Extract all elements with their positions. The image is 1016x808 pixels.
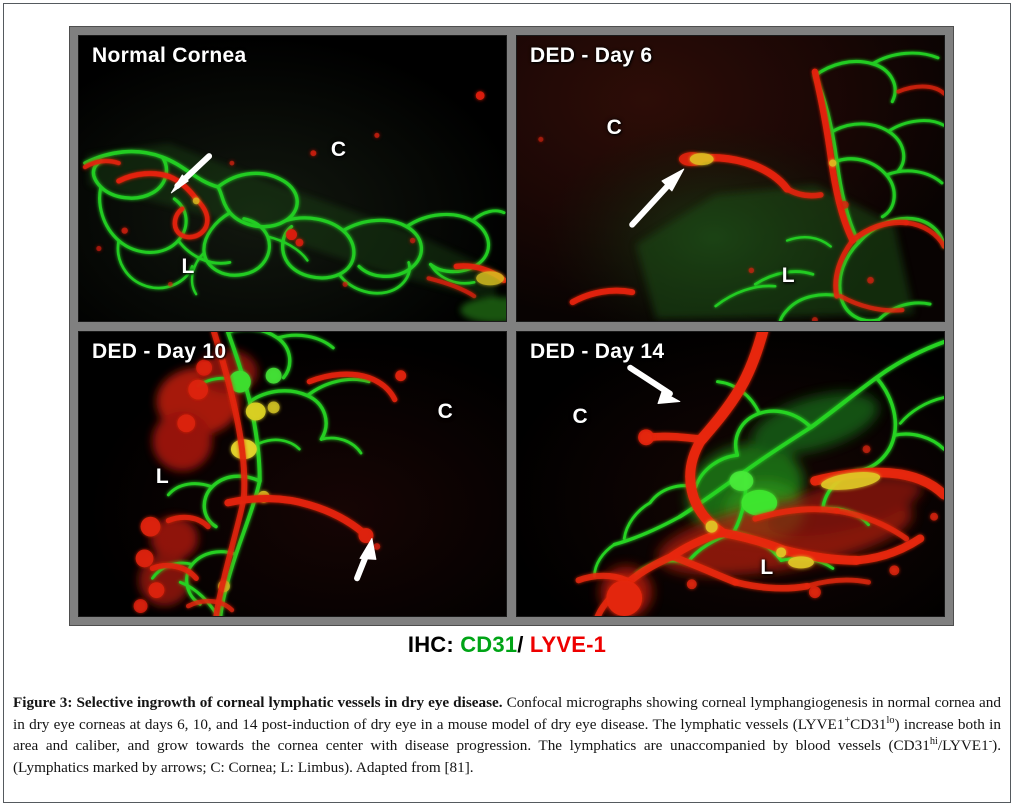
caption-superscript-cd31-hi: hi — [930, 736, 938, 747]
micrograph-panel-ded-day-14[interactable]: DED - Day 14 C L — [516, 331, 945, 618]
vessel-network-ded-day-10 — [79, 332, 506, 618]
micrograph-panel-ded-day-10[interactable]: DED - Day 10 C L — [78, 331, 507, 618]
caption-title: Figure 3: Selective ingrowth of corneal … — [13, 694, 503, 711]
ihc-separator: / — [517, 632, 530, 657]
vessel-network-normal-cornea — [79, 36, 506, 322]
figure-container: Normal Cornea C L — [3, 3, 1011, 803]
figure-caption: Figure 3: Selective ingrowth of corneal … — [13, 692, 1001, 778]
caption-superscript-cd31-lo: lo — [886, 715, 894, 726]
caption-body-part-2: CD31 — [850, 716, 886, 733]
vessel-network-ded-day-6 — [517, 36, 944, 322]
micrograph-panel-ded-day-6[interactable]: DED - Day 6 C L — [516, 35, 945, 322]
micrograph-grid: Normal Cornea C L — [78, 35, 945, 617]
micrograph-panel-normal-cornea[interactable]: Normal Cornea C L — [78, 35, 507, 322]
vessel-network-ded-day-14 — [517, 332, 944, 618]
caption-body-part-4: /LYVE1 — [938, 737, 989, 754]
ihc-marker-cd31: CD31 — [460, 632, 517, 657]
micrograph-mount: Normal Cornea C L — [69, 26, 954, 626]
ihc-prefix-label: IHC: — [408, 632, 460, 657]
ihc-marker-lyve1: LYVE-1 — [530, 632, 606, 657]
ihc-legend: IHC: CD31/ LYVE-1 — [4, 632, 1010, 658]
